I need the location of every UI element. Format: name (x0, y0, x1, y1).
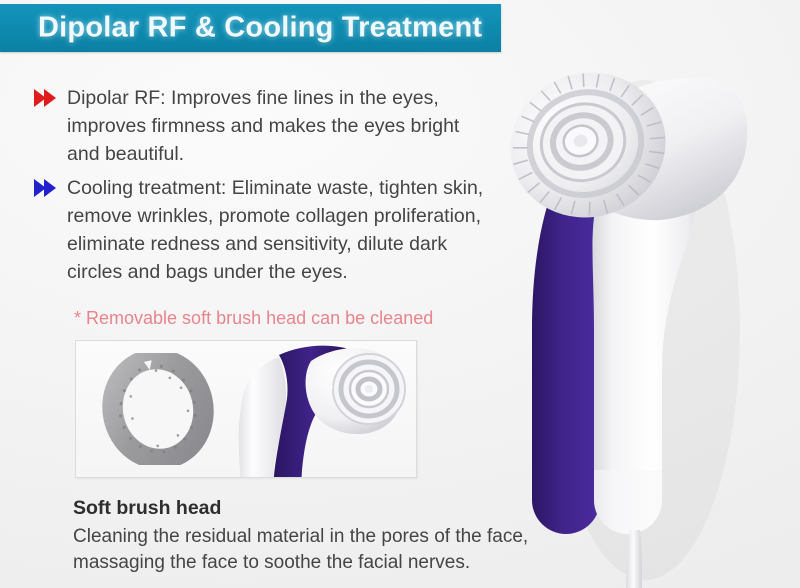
brush-head-attached-image (231, 340, 417, 478)
caption-body: Cleaning the residual material in the po… (73, 524, 533, 576)
caption-title: Soft brush head (73, 497, 221, 520)
feature-text-dipolar-rf: Dipolar RF: Improves fine lines in the e… (67, 84, 487, 168)
soft-brush-ring-image (100, 353, 216, 465)
double-arrow-right-icon (33, 87, 61, 109)
header-banner: Dipolar RF & Cooling Treatment (0, 4, 501, 52)
feature-item-cooling-treatment: Cooling treatment: Eliminate waste, tigh… (33, 174, 487, 286)
brush-head-gallery-box (75, 340, 417, 478)
feature-item-dipolar-rf: Dipolar RF: Improves fine lines in the e… (33, 84, 487, 168)
infographic-page: Dipolar RF & Cooling Treatment Dipolar R… (0, 0, 800, 588)
double-arrow-right-icon (33, 177, 61, 199)
removable-brush-note: * Removable soft brush head can be clean… (74, 308, 433, 329)
feature-text-cooling-treatment: Cooling treatment: Eliminate waste, tigh… (67, 174, 487, 286)
facial-cleansing-device-image (470, 30, 800, 588)
page-title: Dipolar RF & Cooling Treatment (38, 12, 482, 45)
